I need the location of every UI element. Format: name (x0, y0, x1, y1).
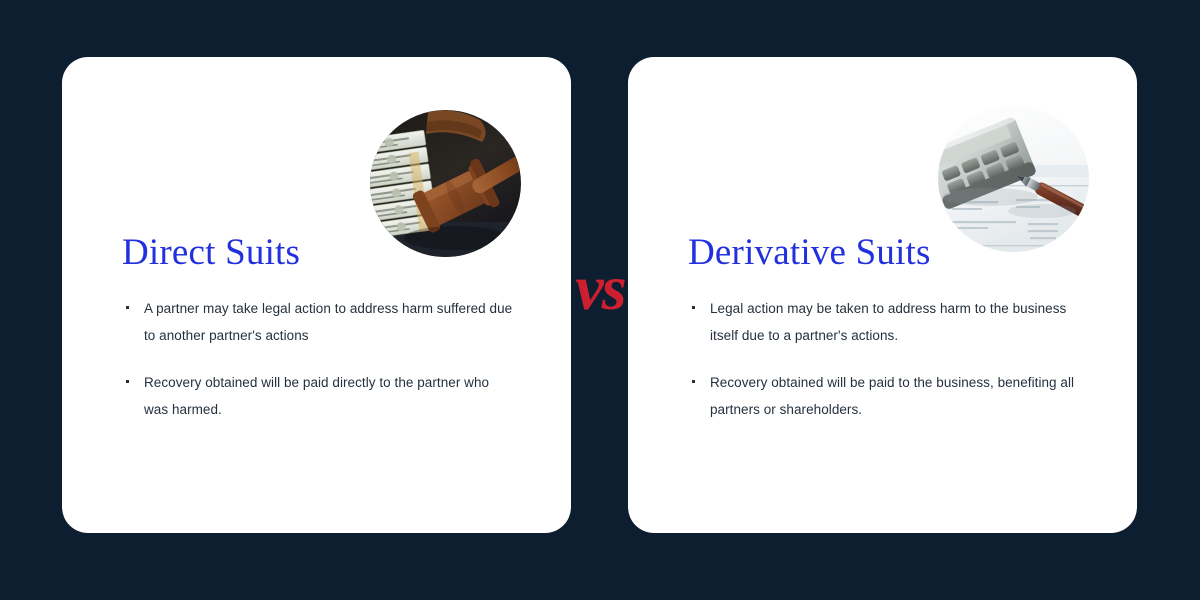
calculator-and-pen-photo (938, 105, 1089, 252)
bullet-marker-icon (126, 380, 129, 383)
list-item: Recovery obtained will be paid to the bu… (686, 369, 1081, 423)
list-item: Legal action may be taken to address har… (686, 295, 1081, 349)
bullet-text: Recovery obtained will be paid directly … (144, 375, 489, 417)
bullet-marker-icon (692, 380, 695, 383)
bullet-text: A partner may take legal action to addre… (144, 301, 512, 343)
page-title-direct-suits: Direct Suits (122, 231, 300, 274)
comparison-card-derivative-suits: Derivative Suits Legal action may be tak… (628, 57, 1137, 533)
bullet-text: Legal action may be taken to address har… (710, 301, 1066, 343)
bullet-marker-icon (692, 306, 695, 309)
list-item: Recovery obtained will be paid directly … (120, 369, 515, 423)
page-title-derivative-suits: Derivative Suits (688, 231, 931, 274)
bullet-list-direct-suits: A partner may take legal action to addre… (120, 295, 515, 423)
bullet-marker-icon (126, 306, 129, 309)
versus-separator: vs (549, 256, 651, 320)
gavel-and-money-photo (370, 110, 521, 257)
list-item: A partner may take legal action to addre… (120, 295, 515, 349)
comparison-card-direct-suits: Direct Suits A partner may take legal ac… (62, 57, 571, 533)
bullet-text: Recovery obtained will be paid to the bu… (710, 375, 1074, 417)
bullet-list-derivative-suits: Legal action may be taken to address har… (686, 295, 1081, 423)
comparison-slide: Direct Suits A partner may take legal ac… (0, 0, 1200, 600)
